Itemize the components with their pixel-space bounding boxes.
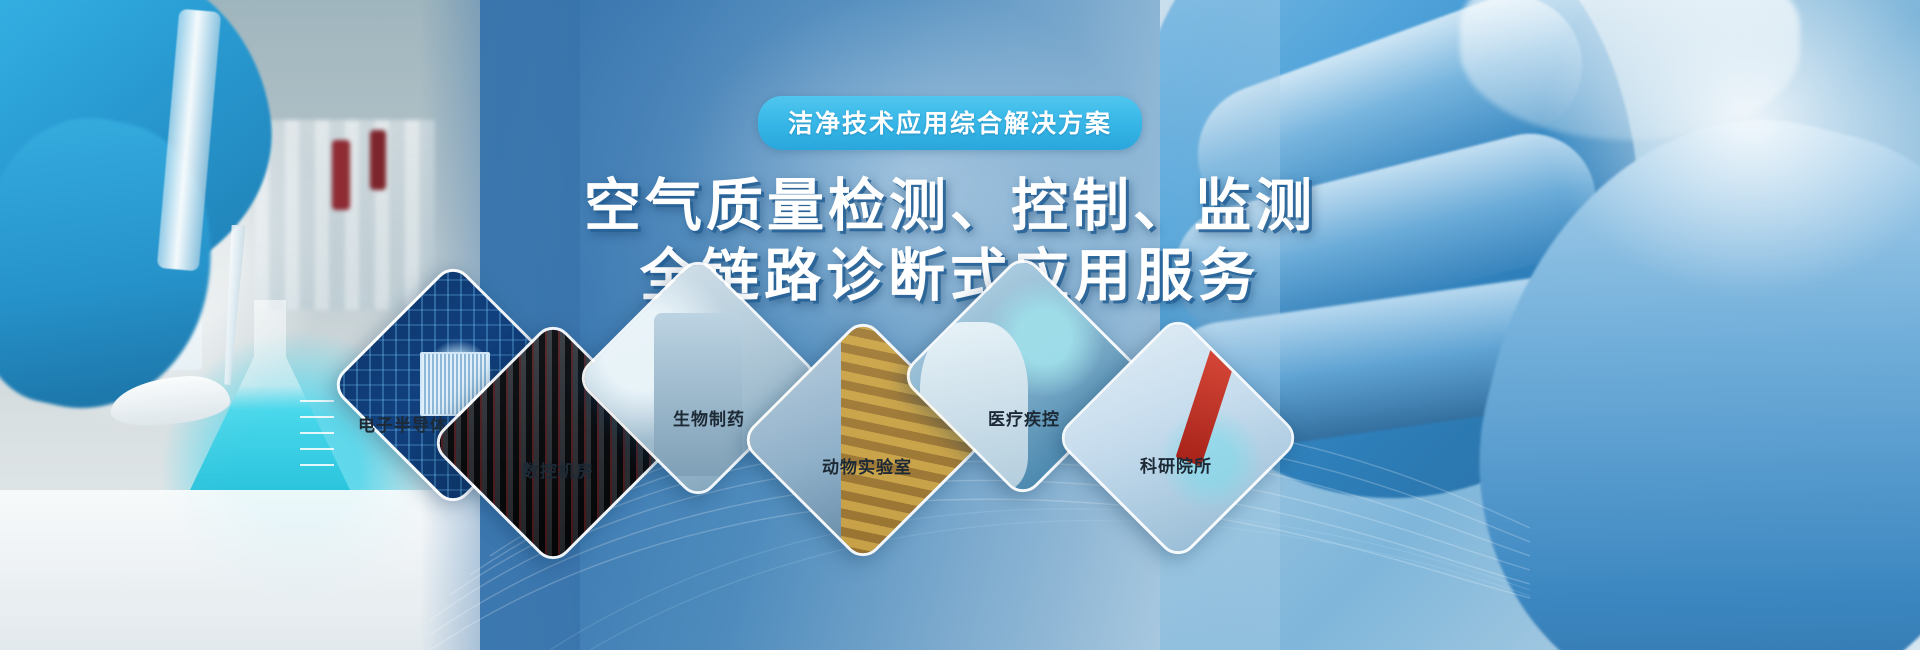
- hero-banner: 洁净技术应用综合解决方案 空气质量检测、控制、监测 全链路诊断式应用服务 电子半…: [0, 0, 1920, 650]
- industry-card-label-research[interactable]: 科研院所: [1140, 452, 1212, 477]
- industry-card-label-datacenter[interactable]: 数控机房: [522, 457, 594, 482]
- light-glare-decor: [1540, 0, 1920, 300]
- red-tube-decor: [332, 140, 350, 210]
- lab-bench-decor: [0, 490, 480, 650]
- industry-card-label-medical[interactable]: 医疗疾控: [988, 405, 1060, 430]
- headline-line-1: 空气质量检测、控制、监测: [470, 172, 1430, 242]
- page-title: 空气质量检测、控制、监测 全链路诊断式应用服务: [470, 172, 1430, 311]
- flask-scale-marks-decor: [300, 400, 334, 480]
- headline-line-2: 全链路诊断式应用服务: [470, 242, 1430, 312]
- industry-card-label-biopharma[interactable]: 生物制药: [673, 405, 745, 430]
- industry-card-label-animal-lab[interactable]: 动物实验室: [822, 453, 912, 478]
- red-tube-decor: [370, 130, 386, 190]
- industry-card-label-electronics[interactable]: 电子半导体: [358, 411, 448, 436]
- hero-text-block: 洁净技术应用综合解决方案 空气质量检测、控制、监测 全链路诊断式应用服务: [470, 96, 1430, 311]
- hero-badge: 洁净技术应用综合解决方案: [758, 96, 1142, 150]
- pipette-tip-decor: [220, 225, 245, 386]
